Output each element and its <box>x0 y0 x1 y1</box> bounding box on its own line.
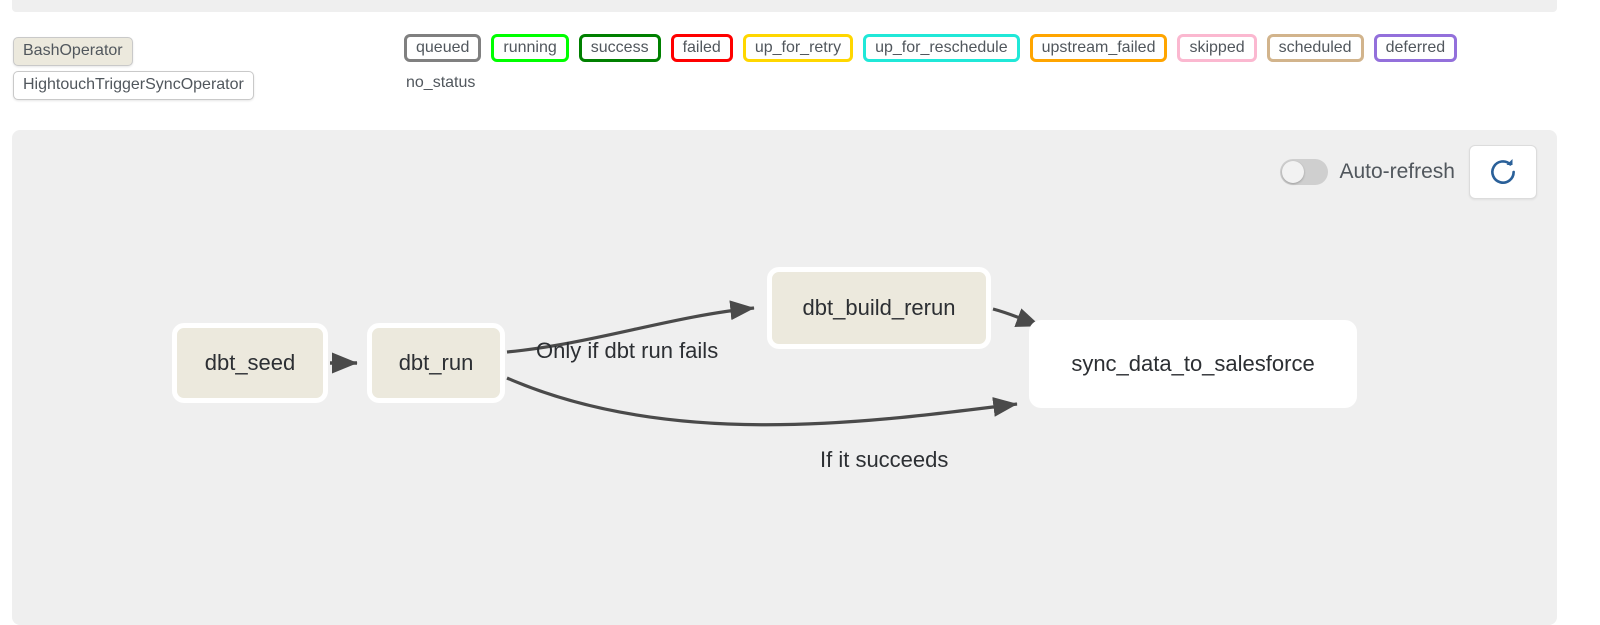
status-chip-queued: queued <box>404 34 481 62</box>
graph-panel-controls: Auto-refresh <box>1280 145 1537 199</box>
legend-row: BashOperator HightouchTriggerSyncOperato… <box>0 28 1600 108</box>
edge-label-if-it-succeeds: If it succeeds <box>820 447 948 473</box>
operator-chip-bashoperator: BashOperator <box>13 37 133 66</box>
status-chip-skipped: skipped <box>1177 34 1256 62</box>
refresh-button[interactable] <box>1469 145 1537 199</box>
panel-top-edge <box>12 0 1557 12</box>
edge-label-only-if-dbt-run-fails: Only if dbt run fails <box>536 338 718 364</box>
graph-node-dbt-build-rerun[interactable]: dbt_build_rerun <box>767 267 991 349</box>
auto-refresh-control[interactable]: Auto-refresh <box>1280 159 1455 185</box>
status-chip-upstream-failed: upstream_failed <box>1030 34 1168 62</box>
status-chip-failed: failed <box>671 34 733 62</box>
graph-canvas[interactable]: dbt_seed dbt_run dbt_build_rerun sync_da… <box>12 130 1557 625</box>
graph-node-label: dbt_run <box>399 350 474 376</box>
refresh-icon <box>1488 157 1518 187</box>
status-chip-up-for-reschedule: up_for_reschedule <box>863 34 1020 62</box>
auto-refresh-toggle-knob <box>1282 161 1304 183</box>
edge-dbt-run-to-sync-data-to-salesforce <box>507 378 1017 425</box>
status-chip-up-for-retry: up_for_retry <box>743 34 853 62</box>
graph-node-dbt-run[interactable]: dbt_run <box>367 323 505 403</box>
operator-legend: BashOperator HightouchTriggerSyncOperato… <box>13 37 254 100</box>
dag-graph-view: BashOperator HightouchTriggerSyncOperato… <box>0 0 1600 625</box>
graph-node-label: dbt_seed <box>205 350 296 376</box>
status-chip-success: success <box>579 34 661 62</box>
status-chip-scheduled: scheduled <box>1267 34 1364 62</box>
graph-node-label: sync_data_to_salesforce <box>1071 351 1314 377</box>
graph-node-sync-data-to-salesforce[interactable]: sync_data_to_salesforce <box>1029 320 1357 408</box>
auto-refresh-label: Auto-refresh <box>1339 160 1455 184</box>
status-legend-chips: queued running success failed up_for_ret… <box>404 28 1457 68</box>
graph-panel: Auto-refresh <box>12 130 1557 625</box>
status-chip-deferred: deferred <box>1374 34 1458 62</box>
operator-chip-hightouchtriggersyncoperator: HightouchTriggerSyncOperator <box>13 71 254 100</box>
auto-refresh-toggle[interactable] <box>1280 159 1328 185</box>
graph-node-dbt-seed[interactable]: dbt_seed <box>172 323 328 403</box>
status-legend: queued running success failed up_for_ret… <box>404 28 1457 93</box>
graph-node-label: dbt_build_rerun <box>803 295 956 321</box>
status-chip-running: running <box>491 34 568 62</box>
status-legend-no-status: no_status <box>404 73 1457 93</box>
